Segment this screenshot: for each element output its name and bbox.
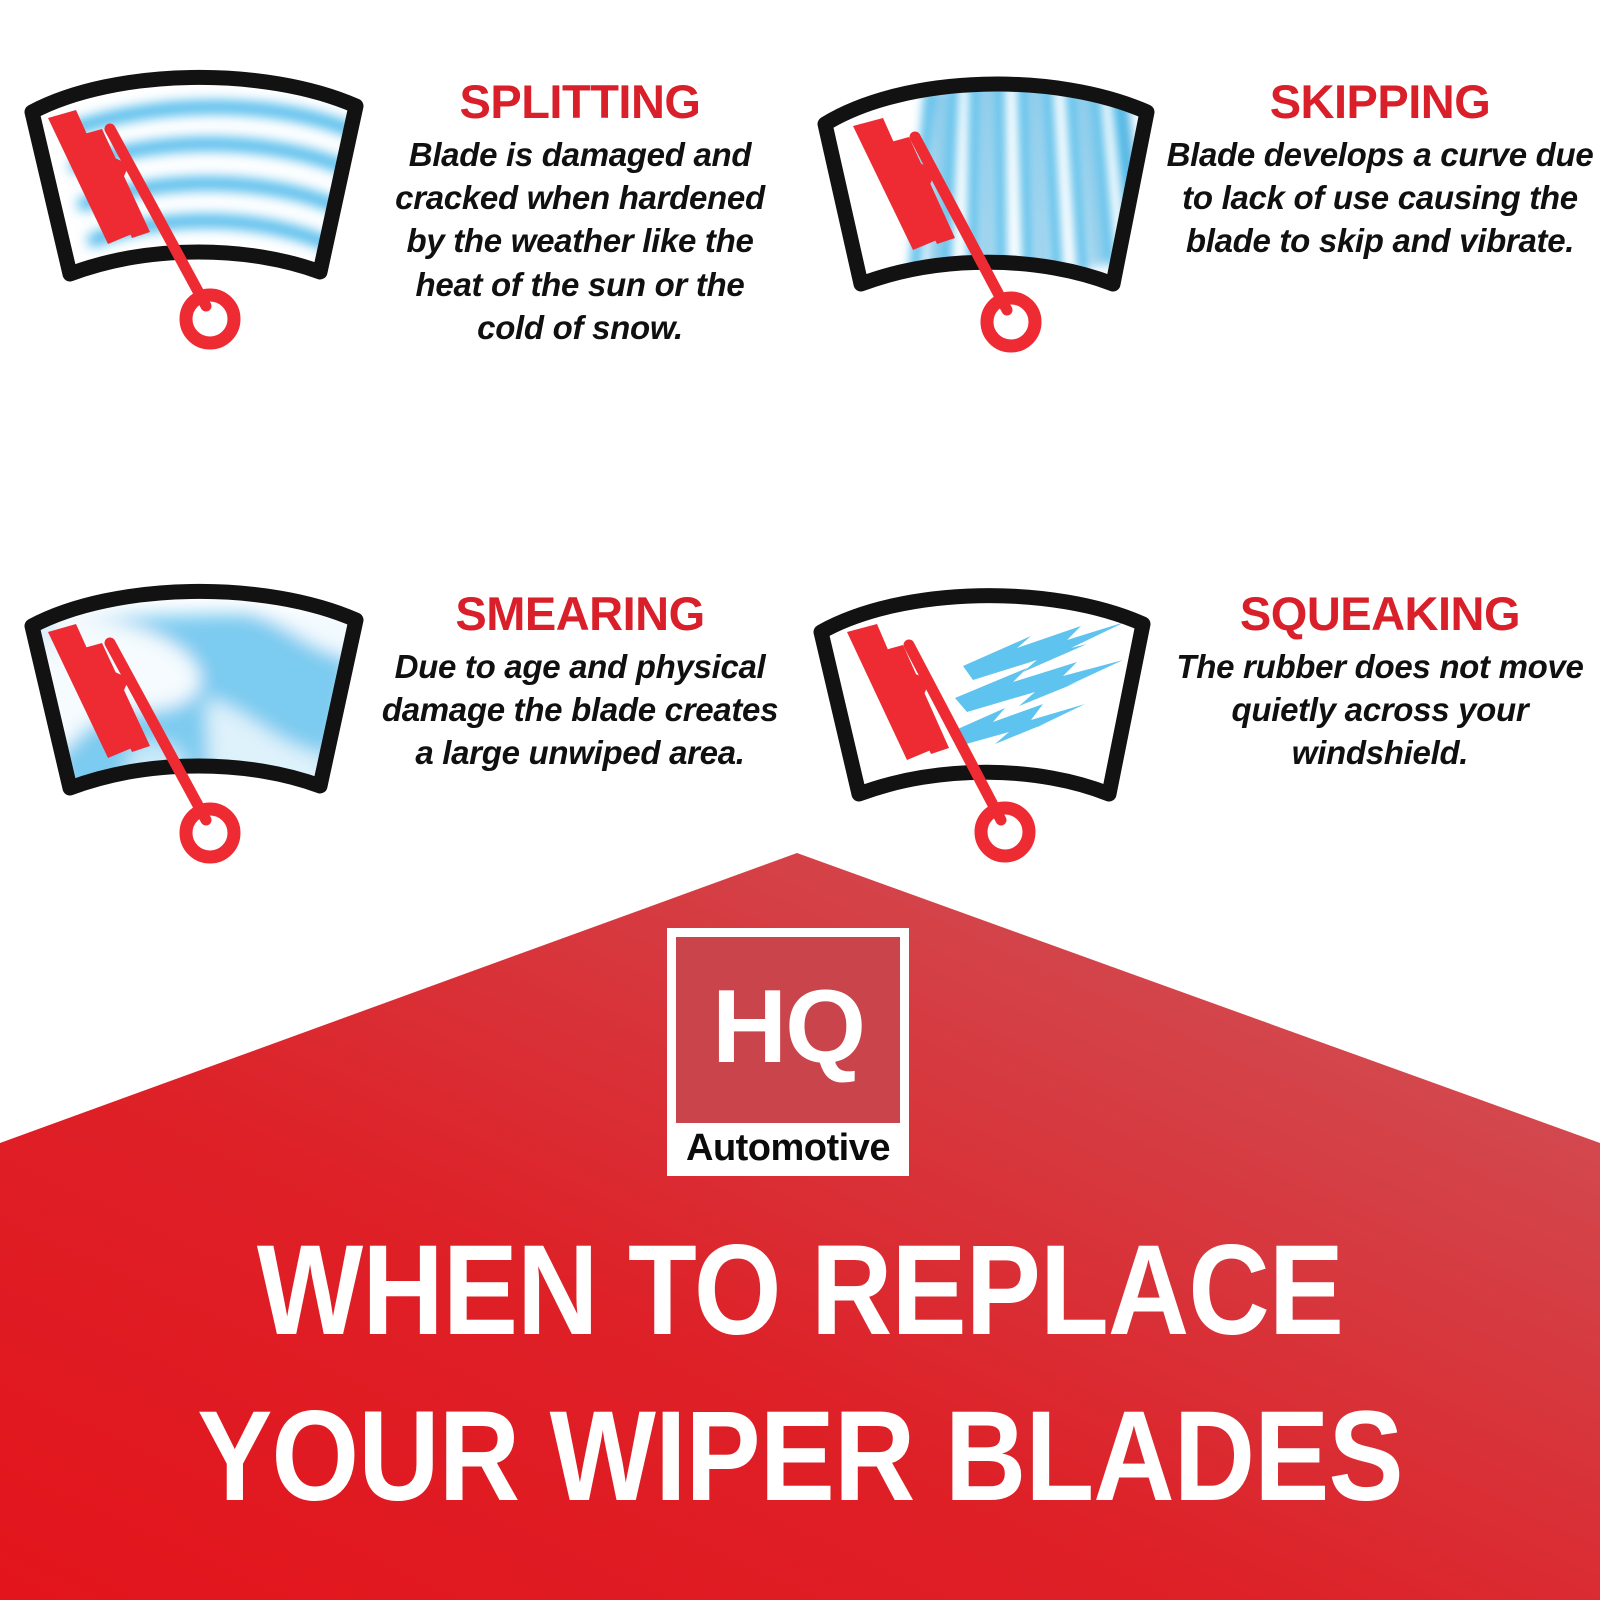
symptom-title: SKIPPING — [1165, 78, 1595, 125]
symptom-title: SQUEAKING — [1165, 590, 1595, 637]
symptom-body: Blade develops a curve due to lack of us… — [1165, 133, 1595, 263]
wiper-blade-skipping-icon — [795, 34, 1165, 354]
wiper-blade-smearing-icon — [10, 548, 380, 868]
wiper-blade-splitting-icon — [10, 34, 380, 354]
symptom-title: SPLITTING — [380, 78, 780, 125]
symptom-body: Blade is damaged and cracked when harden… — [380, 133, 780, 349]
logo-mark-box: HQ — [676, 937, 900, 1123]
wiper-blade-squeaking-icon — [795, 548, 1165, 868]
hq-automotive-logo: HQ Automotive — [667, 928, 909, 1176]
symptom-card-squeaking: SQUEAKING The rubber does not move quiet… — [795, 548, 1595, 868]
symptom-card-skipping: SKIPPING Blade develops a curve due to l… — [795, 34, 1595, 354]
logo-subtitle: Automotive — [676, 1123, 900, 1173]
symptom-card-splitting: SPLITTING Blade is damaged and cracked w… — [10, 34, 780, 354]
symptom-text-squeaking: SQUEAKING The rubber does not move quiet… — [1165, 548, 1595, 775]
headline-line-2: YOUR WIPER BLADES — [96, 1382, 1504, 1532]
infographic-canvas: SPLITTING Blade is damaged and cracked w… — [0, 0, 1600, 1600]
symptom-body: The rubber does not move quietly across … — [1165, 645, 1595, 775]
symptom-text-splitting: SPLITTING Blade is damaged and cracked w… — [380, 34, 780, 349]
headline: WHEN TO REPLACE YOUR WIPER BLADES — [0, 1216, 1600, 1532]
symptom-text-smearing: SMEARING Due to age and physical damage … — [380, 548, 780, 775]
symptom-text-skipping: SKIPPING Blade develops a curve due to l… — [1165, 34, 1595, 263]
symptom-card-smearing: SMEARING Due to age and physical damage … — [10, 548, 780, 868]
logo-mark-text: HQ — [712, 975, 864, 1085]
symptom-body: Due to age and physical damage the blade… — [380, 645, 780, 775]
symptom-card-grid: SPLITTING Blade is damaged and cracked w… — [0, 0, 1600, 860]
symptom-title: SMEARING — [380, 590, 780, 637]
headline-line-1: WHEN TO REPLACE — [96, 1216, 1504, 1366]
